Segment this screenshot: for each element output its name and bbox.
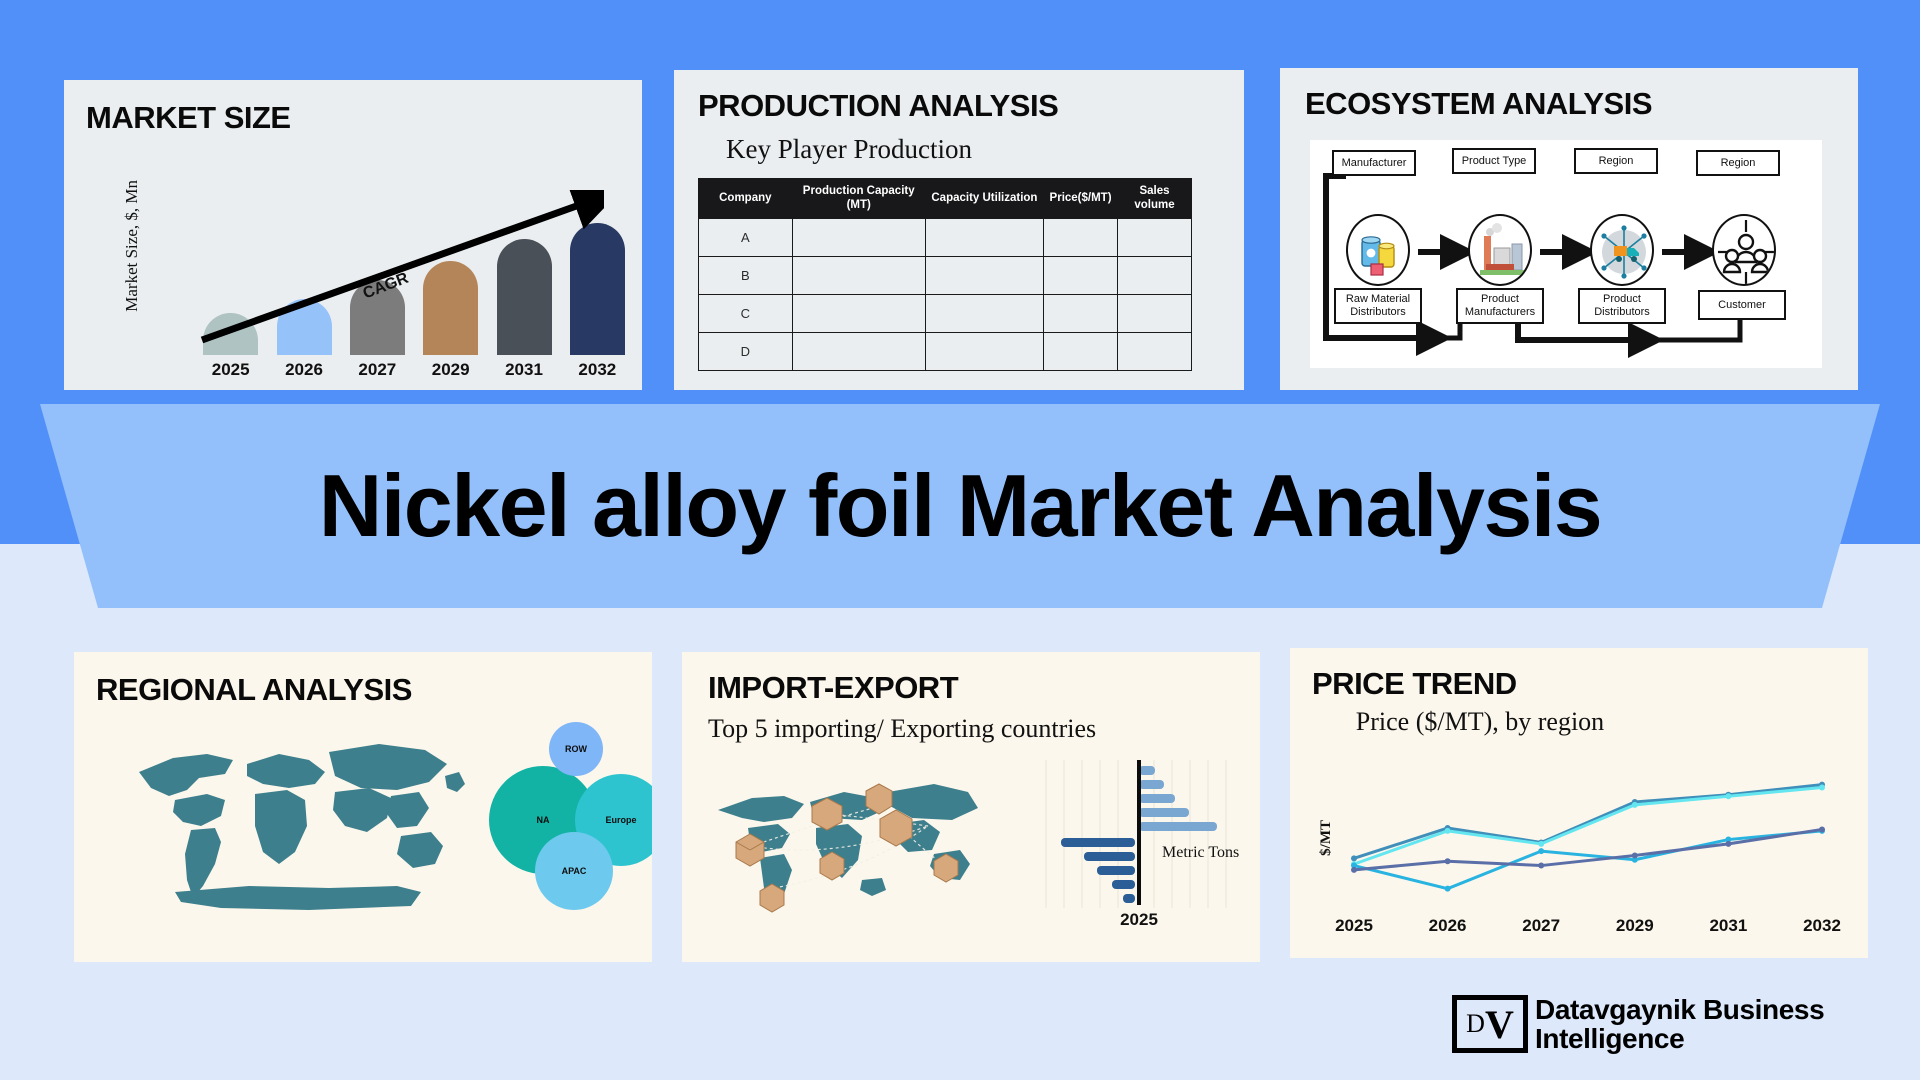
eco-top-label-0: Manufacturer	[1332, 150, 1416, 176]
tornado-unit-label: Metric Tons	[1162, 844, 1239, 862]
table-header-cell: Sales volume	[1118, 179, 1192, 219]
table-header-row: CompanyProduction Capacity(MT)Capacity U…	[699, 179, 1192, 219]
panel-ecosystem-analysis: ECOSYSTEM ANALYSIS Manufacturer Product …	[1280, 68, 1858, 390]
trade-flow-map-icon	[712, 762, 992, 922]
panel-title-price-trend: PRICE TREND	[1312, 666, 1517, 702]
tornado-export-bar	[1097, 866, 1135, 875]
regional-bubble-chart: NAEuropeAPACROW	[489, 718, 639, 928]
price-trend-point	[1819, 785, 1825, 791]
table-cell-capacity[interactable]	[792, 219, 925, 257]
table-cell-capacity[interactable]	[792, 257, 925, 295]
tornado-export-bar	[1123, 894, 1135, 903]
price-trend-x-label: 2025	[1319, 916, 1389, 936]
table-cell-capacity[interactable]	[792, 295, 925, 333]
table-row[interactable]: B	[699, 257, 1192, 295]
price-trend-point	[1725, 841, 1731, 847]
tornado-export-bar	[1084, 852, 1135, 861]
panel-title-import-export: IMPORT-EXPORT	[708, 670, 958, 706]
production-subtitle: Key Player Production	[726, 134, 972, 165]
table-header-cell: Production Capacity(MT)	[792, 179, 925, 219]
price-trend-point	[1538, 848, 1544, 854]
tornado-import-bar	[1139, 794, 1175, 803]
market-size-x-label: 2032	[566, 360, 628, 380]
price-trend-point	[1351, 867, 1357, 873]
barrels-icon	[1346, 214, 1410, 286]
tornado-export-bar	[1112, 880, 1135, 889]
price-trend-x-label: 2029	[1600, 916, 1670, 936]
logo-wordmark: Datavgaynik Business Intelligence	[1535, 995, 1824, 1054]
table-cell-sales[interactable]	[1118, 257, 1192, 295]
table-cell-price[interactable]	[1044, 333, 1118, 371]
table-cell-sales[interactable]	[1118, 219, 1192, 257]
factory-icon	[1468, 214, 1532, 286]
logo-line-1: Datavgaynik Business	[1535, 995, 1824, 1024]
eco-bottom-label-1: Product Manufacturers	[1456, 288, 1544, 324]
table-cell-company[interactable]: C	[699, 295, 793, 333]
table-cell-company[interactable]: D	[699, 333, 793, 371]
market-size-x-label: 2025	[200, 360, 262, 380]
eco-bottom-label-0: Raw Material Distributors	[1334, 288, 1422, 324]
market-size-x-label: 2027	[346, 360, 408, 380]
price-trend-point	[1445, 886, 1451, 892]
eco-top-label-3: Region	[1696, 150, 1780, 176]
page-title: Nickel alloy foil Market Analysis	[0, 404, 1920, 608]
price-trend-x-label: 2032	[1787, 916, 1857, 936]
price-trend-point	[1538, 841, 1544, 847]
market-size-x-axis-labels: 202520262027202920312032	[194, 360, 634, 384]
tornado-export-bar	[1061, 838, 1135, 847]
price-trend-line	[1354, 785, 1822, 859]
tornado-import-bar	[1139, 822, 1217, 831]
eco-top-label-1: Product Type	[1452, 148, 1536, 174]
table-cell-sales[interactable]	[1118, 333, 1192, 371]
market-size-x-label: 2026	[273, 360, 335, 380]
table-cell-utilization[interactable]	[925, 333, 1043, 371]
table-cell-utilization[interactable]	[925, 219, 1043, 257]
table-row[interactable]: C	[699, 295, 1192, 333]
table-cell-utilization[interactable]	[925, 257, 1043, 295]
price-trend-point	[1819, 826, 1825, 832]
price-trend-point	[1445, 828, 1451, 834]
tornado-year-label: 2025	[1094, 910, 1184, 930]
tornado-import-bar	[1139, 808, 1189, 817]
price-trend-line-chart	[1342, 770, 1840, 910]
price-trend-point	[1538, 863, 1544, 869]
price-trend-subtitle: Price ($/MT), by region	[1350, 706, 1610, 739]
table-header-cell: Company	[699, 179, 793, 219]
tornado-import-bar	[1139, 780, 1164, 789]
price-trend-point	[1632, 802, 1638, 808]
import-export-subtitle: Top 5 importing/ Exporting countries	[708, 714, 1096, 744]
tornado-center-axis	[1137, 760, 1141, 905]
logo-mark-dv: D V	[1452, 995, 1528, 1053]
price-trend-point	[1445, 858, 1451, 864]
panel-regional-analysis: REGIONAL ANALYSIS NAEuropeAPACROW	[74, 652, 652, 962]
eco-bottom-label-3: Customer	[1698, 290, 1786, 320]
table-cell-price[interactable]	[1044, 257, 1118, 295]
panel-title-regional-analysis: REGIONAL ANALYSIS	[96, 672, 412, 708]
table-cell-capacity[interactable]	[792, 333, 925, 371]
region-bubble-row: ROW	[549, 722, 603, 776]
logo-line-2: Intelligence	[1535, 1024, 1824, 1053]
brand-logo: D V Datavgaynik Business Intelligence	[1452, 995, 1824, 1054]
panel-price-trend: PRICE TREND Price ($/MT), by region $/MT…	[1290, 648, 1868, 958]
logo-letter-v: V	[1485, 1001, 1514, 1048]
price-trend-line	[1354, 788, 1822, 865]
price-trend-point	[1725, 793, 1731, 799]
table-row[interactable]: D	[699, 333, 1192, 371]
tornado-import-bar	[1139, 766, 1155, 775]
price-trend-x-label: 2026	[1413, 916, 1483, 936]
panel-title-production-analysis: PRODUCTION ANALYSIS	[698, 88, 1058, 124]
ecosystem-flow-diagram: Manufacturer Product Type Region Region	[1310, 140, 1822, 368]
panel-market-size: MARKET SIZE Market Size, $, Mn 202520262…	[64, 80, 642, 390]
panel-title-ecosystem-analysis: ECOSYSTEM ANALYSIS	[1305, 86, 1652, 122]
panel-title-market-size: MARKET SIZE	[86, 100, 291, 136]
eco-bottom-label-2: Product Distributors	[1578, 288, 1666, 324]
world-map-icon	[129, 730, 479, 920]
import-export-tornado-chart: Metric Tons 2025	[1032, 760, 1242, 920]
panel-import-export: IMPORT-EXPORT Top 5 importing/ Exporting…	[682, 652, 1260, 962]
table-cell-sales[interactable]	[1118, 295, 1192, 333]
market-size-y-axis-label: Market Size, $, Mn	[122, 180, 142, 312]
table-row[interactable]: A	[699, 219, 1192, 257]
price-trend-y-axis-label: $/MT	[1318, 820, 1335, 856]
table-body: ABCD	[699, 219, 1192, 371]
key-player-production-table: CompanyProduction Capacity(MT)Capacity U…	[698, 178, 1192, 371]
eco-top-label-2: Region	[1574, 148, 1658, 174]
price-trend-x-label: 2031	[1693, 916, 1763, 936]
price-trend-x-label: 2027	[1506, 916, 1576, 936]
logo-letter-d: D	[1466, 1009, 1485, 1039]
table-header-cell: Capacity Utilization	[925, 179, 1043, 219]
region-bubble-apac: APAC	[535, 832, 613, 910]
table-cell-price[interactable]	[1044, 295, 1118, 333]
price-trend-point	[1351, 855, 1357, 861]
table-header-cell: Price($/MT)	[1044, 179, 1118, 219]
panel-production-analysis: PRODUCTION ANALYSIS Key Player Productio…	[674, 70, 1244, 390]
table-cell-price[interactable]	[1044, 219, 1118, 257]
market-size-x-label: 2029	[420, 360, 482, 380]
table-cell-company[interactable]: B	[699, 257, 793, 295]
table-cell-company[interactable]: A	[699, 219, 793, 257]
distribution-network-icon	[1590, 214, 1654, 286]
customers-target-icon	[1712, 214, 1776, 286]
market-size-x-label: 2031	[493, 360, 555, 380]
table-cell-utilization[interactable]	[925, 295, 1043, 333]
price-trend-point	[1632, 852, 1638, 858]
